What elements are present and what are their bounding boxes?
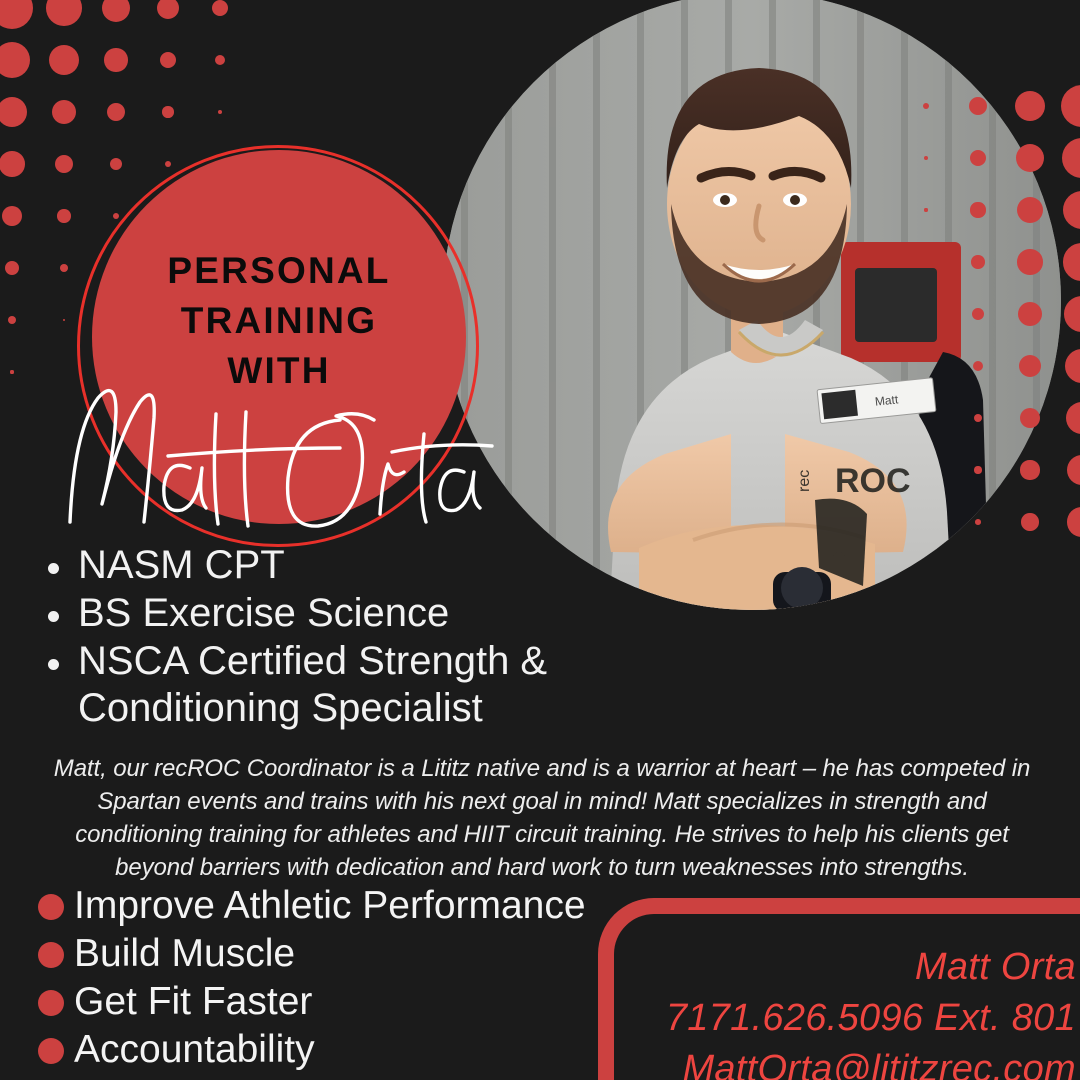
credential-item: NSCA Certified Strength & Conditioning S… (78, 638, 598, 732)
signature-script-svg (40, 372, 500, 542)
halftone-dot (49, 45, 79, 75)
credentials-list: NASM CPT BS Exercise Science NSCA Certif… (34, 542, 598, 733)
halftone-dot (0, 97, 27, 128)
halftone-dot (1067, 507, 1080, 536)
halftone-dot (104, 48, 127, 71)
svg-text:ROC: ROC (835, 462, 911, 500)
contact-name: Matt Orta (666, 942, 1076, 993)
halftone-dot (212, 0, 228, 16)
credential-item: BS Exercise Science (78, 590, 598, 637)
halftone-dot (8, 316, 17, 325)
halftone-dot (102, 0, 131, 22)
benefit-item: Get Fit Faster (38, 978, 586, 1026)
halftone-dot (218, 110, 223, 115)
halftone-dot (63, 319, 65, 321)
contact-phone[interactable]: 7171.626.5096 Ext. 801 (666, 993, 1076, 1044)
halftone-dot (1064, 296, 1080, 332)
benefit-item: Improve Athletic Performance (38, 882, 586, 930)
benefit-item: Build Muscle (38, 930, 586, 978)
contact-card: Matt Orta 7171.626.5096 Ext. 801 MattOrt… (598, 898, 1080, 1080)
halftone-dot (162, 106, 173, 117)
halftone-dot (1067, 455, 1080, 486)
halftone-dot (55, 155, 74, 174)
halftone-dot (1063, 243, 1080, 280)
halftone-dot (2, 206, 22, 226)
bio-paragraph: Matt, our recROC Coordinator is a Lititz… (36, 752, 1048, 884)
halftone-dot (1020, 460, 1039, 479)
svg-text:Matt: Matt (874, 392, 899, 408)
halftone-dot (57, 209, 70, 222)
contact-details: Matt Orta 7171.626.5096 Ext. 801 MattOrt… (666, 942, 1076, 1080)
halftone-dot (1015, 91, 1045, 121)
credential-item: NASM CPT (78, 542, 598, 589)
halftone-dot (165, 161, 171, 167)
svg-text:rec: rec (796, 470, 813, 492)
badge-line-2: TRAINING (92, 296, 466, 346)
halftone-dot (113, 213, 120, 220)
benefits-list: Improve Athletic Performance Build Muscl… (38, 882, 586, 1074)
poster-canvas: Matt ROC rec PERSONAL TRAINING WITH (0, 0, 1080, 1080)
halftone-dot (1021, 513, 1039, 531)
halftone-dot (975, 519, 981, 525)
halftone-dot (0, 42, 30, 78)
halftone-dot (5, 261, 19, 275)
halftone-dot (10, 370, 13, 373)
halftone-dot (1063, 191, 1080, 230)
halftone-dot (157, 0, 179, 19)
halftone-dot (1061, 85, 1080, 127)
trainer-photo-illustration: Matt ROC rec (443, 0, 1061, 610)
halftone-dot (0, 0, 33, 29)
halftone-dot (1062, 138, 1080, 178)
contact-email[interactable]: MattOrta@lititzrec.com (666, 1044, 1076, 1080)
halftone-dot (1065, 349, 1080, 383)
halftone-dot (1066, 402, 1080, 435)
benefit-item: Accountability (38, 1026, 586, 1074)
halftone-dot (52, 100, 76, 124)
halftone-dot (46, 0, 81, 26)
halftone-dot (160, 52, 177, 69)
halftone-dot (0, 151, 25, 176)
halftone-dot (110, 158, 122, 170)
halftone-dot (215, 55, 225, 65)
halftone-dot (107, 103, 125, 121)
signature-matt-orta (40, 372, 500, 542)
trainer-photo: Matt ROC rec (443, 0, 1061, 610)
badge-line-1: PERSONAL (92, 246, 466, 296)
halftone-dot (60, 264, 68, 272)
